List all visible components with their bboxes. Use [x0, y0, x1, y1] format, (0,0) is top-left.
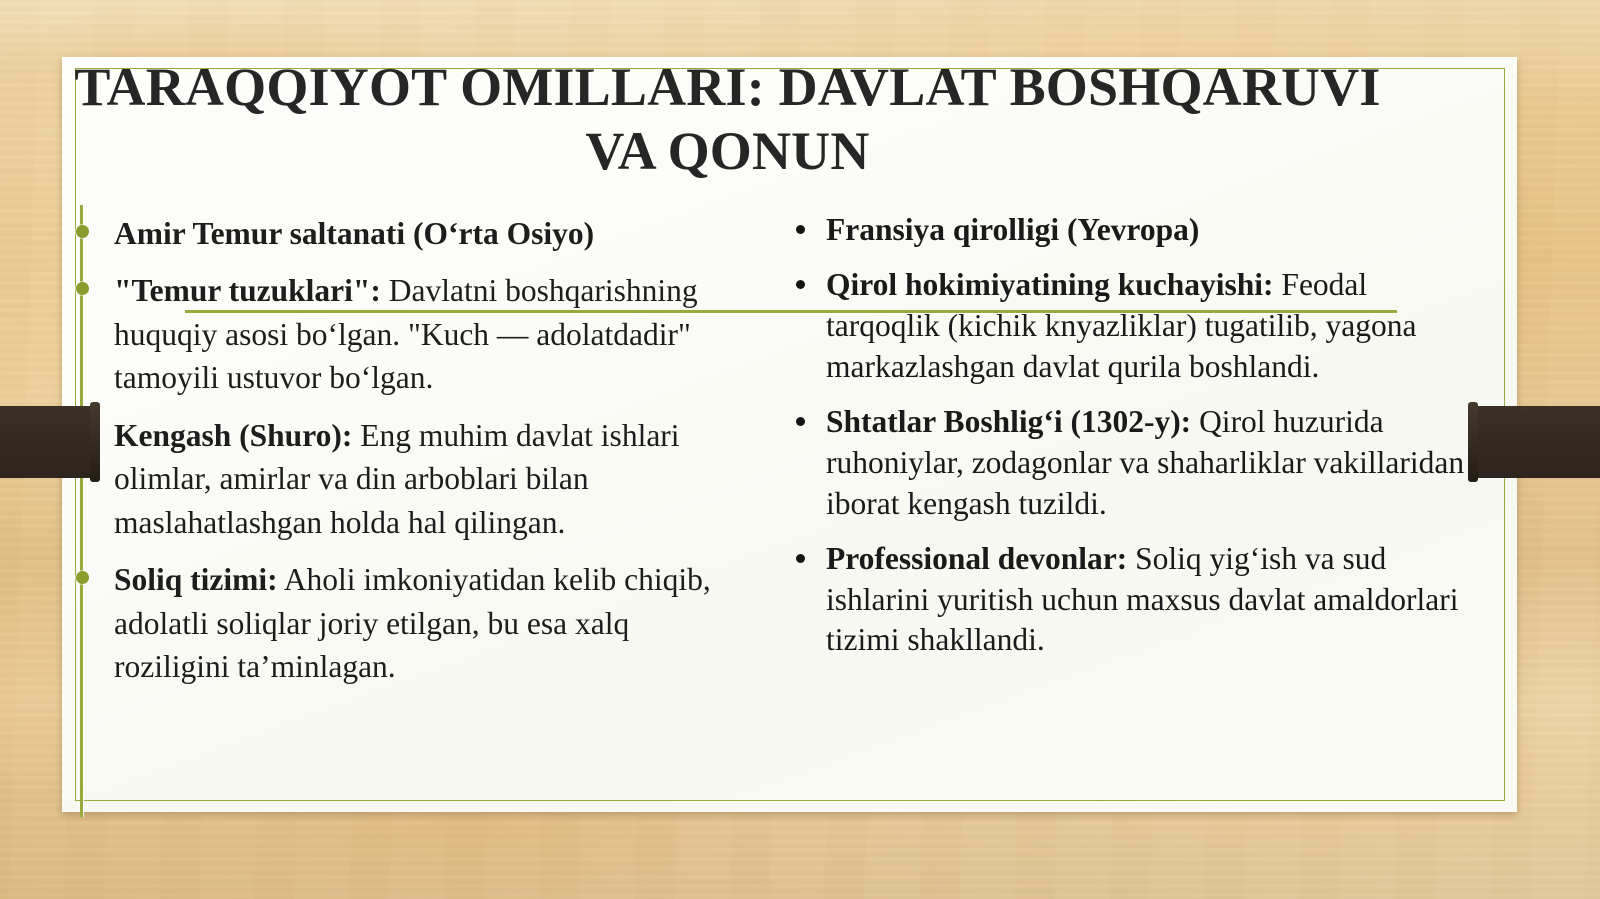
left-column: Amir Temur saltanati (O‘rta Osiyo) "Temu… — [76, 212, 716, 703]
ribbon-banner-left — [0, 406, 98, 478]
list-item: Kengash (Shuro): Eng muhim davlat ishlar… — [76, 414, 716, 544]
list-item: Professional devonlar: Soliq yig‘ish va … — [788, 539, 1488, 662]
left-bullet-list: Amir Temur saltanati (O‘rta Osiyo) "Temu… — [76, 212, 716, 689]
slide-title: TARAQQIYOT OMILLARI: DAVLAT BOSHQARUVI V… — [40, 56, 1415, 183]
bullet-lead: Soliq tizimi: — [114, 562, 278, 597]
bullet-dot-icon — [796, 225, 805, 234]
list-item: Amir Temur saltanati (O‘rta Osiyo) — [76, 212, 716, 255]
bullet-dot-icon — [76, 282, 89, 295]
list-item: Shtatlar Boshlig‘i (1302-y): Qirol huzur… — [788, 402, 1488, 525]
bullet-lead: Qirol hokimiyatining kuchayishi: — [826, 267, 1274, 302]
list-item: "Temur tuzuklari": Davlatni boshqarishni… — [76, 269, 716, 399]
bullet-dot-icon — [76, 225, 89, 238]
bullet-lead: Amir Temur saltanati (O‘rta Osiyo) — [114, 216, 594, 251]
list-item: Fransiya qirolligi (Yevropa) — [788, 210, 1488, 251]
ribbon-banner-right — [1470, 406, 1600, 478]
bullet-lead: Professional devonlar: — [826, 541, 1127, 576]
bullet-lead: Shtatlar Boshlig‘i (1302-y): — [826, 404, 1191, 439]
decorative-divider — [185, 310, 1397, 313]
right-column: Fransiya qirolligi (Yevropa) Qirol hokim… — [788, 210, 1488, 675]
bullet-dot-icon — [796, 417, 805, 426]
list-item: Qirol hokimiyatining kuchayishi: Feodal … — [788, 265, 1488, 388]
bullet-lead: "Temur tuzuklari": — [114, 273, 381, 308]
bullet-lead: Fransiya qirolligi (Yevropa) — [826, 212, 1199, 247]
right-bullet-list: Fransiya qirolligi (Yevropa) Qirol hokim… — [788, 210, 1488, 661]
ribbon-cap-left — [90, 402, 100, 482]
bullet-dot-icon — [796, 554, 805, 563]
bullet-lead: Kengash (Shuro): — [114, 418, 352, 453]
bullet-dot-icon — [796, 280, 805, 289]
ribbon-cap-right — [1468, 402, 1478, 482]
bullet-dot-icon — [76, 571, 89, 584]
list-item: Soliq tizimi: Aholi imkoniyatidan kelib … — [76, 558, 716, 688]
presentation-slide: TARAQQIYOT OMILLARI: DAVLAT BOSHQARUVI V… — [0, 0, 1600, 899]
